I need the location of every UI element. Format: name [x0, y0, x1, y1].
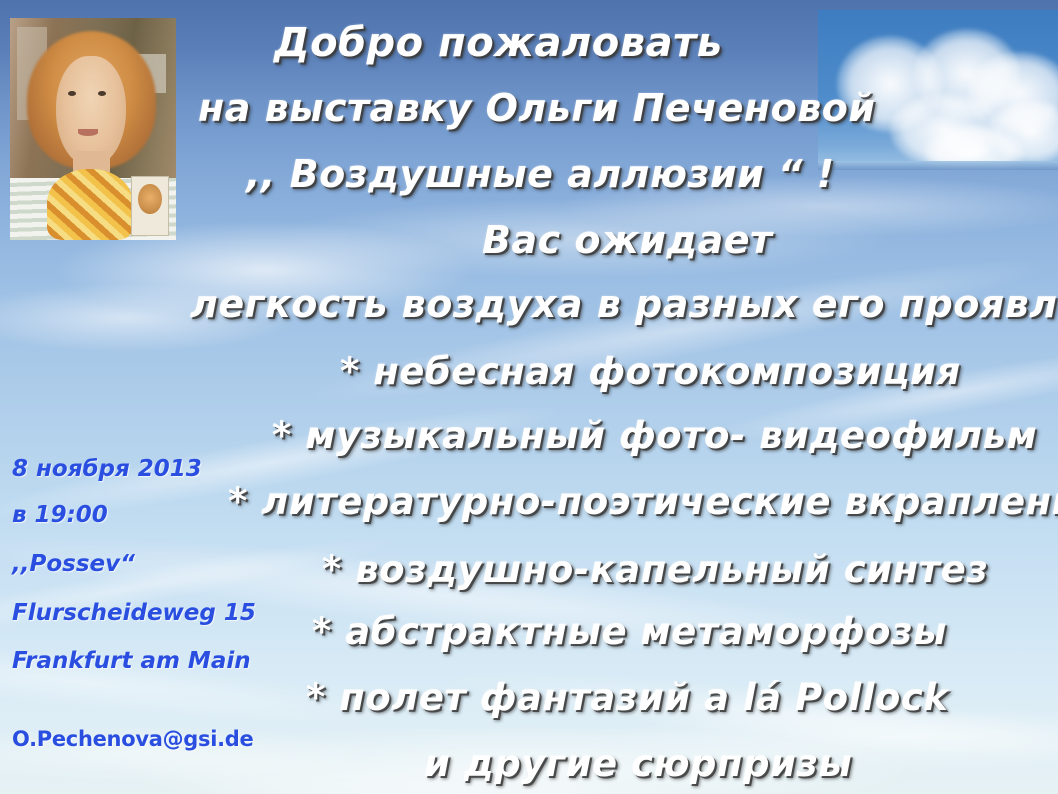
badge-photo-icon [138, 184, 161, 214]
cloud-photo-horizon [818, 161, 1058, 170]
contact-email[interactable]: O.Pechenova@gsi.de [12, 727, 253, 751]
heart-cloud-photo [818, 10, 1058, 170]
event-time: в 19:00 [12, 502, 108, 528]
portrait-mouth [78, 129, 98, 136]
portrait-face [56, 56, 126, 167]
venue-street: Flurscheideweg 15 [12, 600, 256, 626]
venue-city: Frankfurt am Main [12, 648, 251, 674]
artist-portrait-photo [10, 18, 176, 240]
venue-name: ,,Possev“ [12, 551, 135, 577]
portrait-id-badge [131, 176, 170, 236]
portrait-scarf [47, 169, 133, 240]
event-date: 8 ноября 2013 [12, 456, 202, 482]
poster-canvas: Добро пожаловать на выставку Ольги Печен… [0, 0, 1058, 794]
